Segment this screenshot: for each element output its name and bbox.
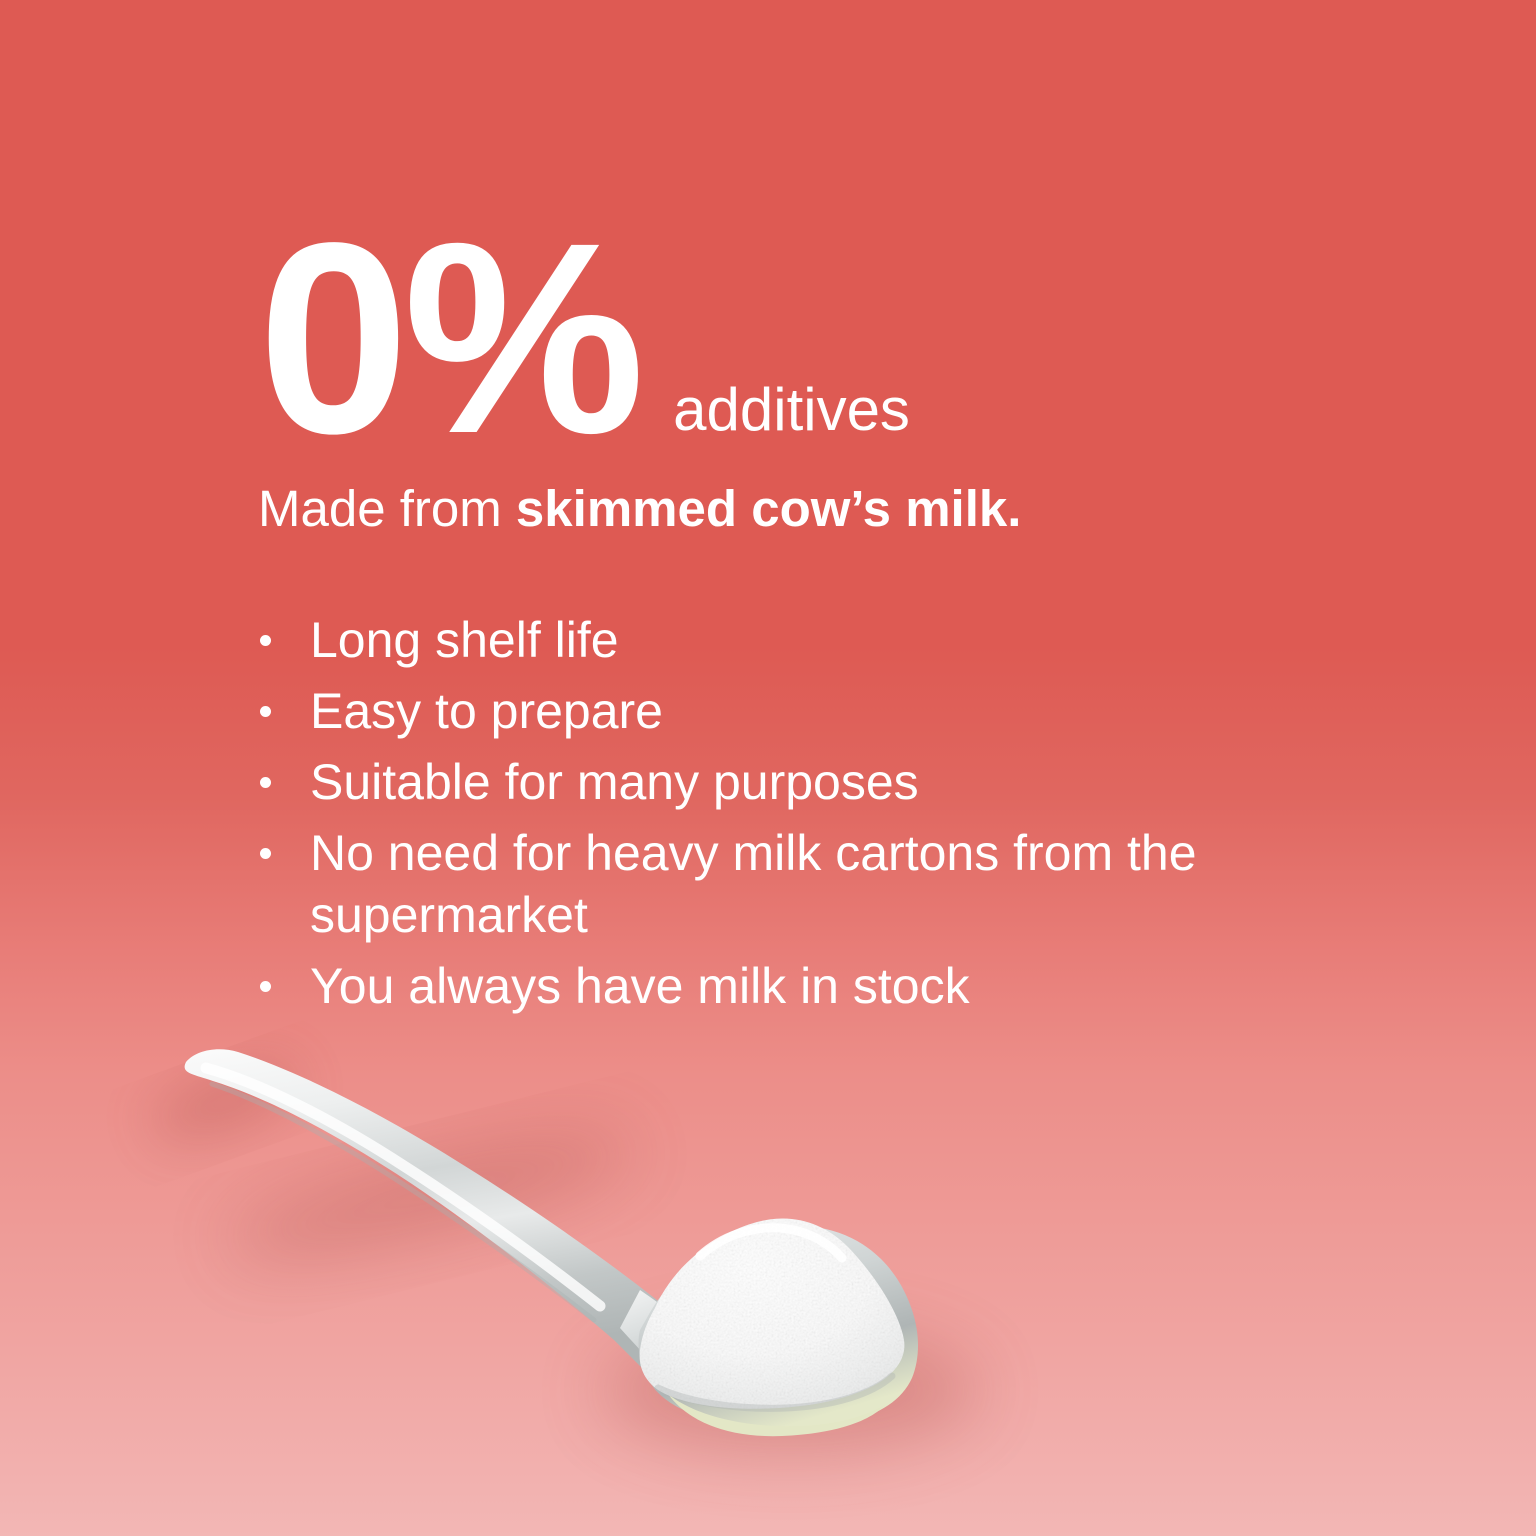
list-item-label: You always have milk in stock [310, 958, 970, 1014]
bullet-dot-icon [260, 777, 271, 788]
list-item-label: Suitable for many purposes [310, 754, 919, 810]
list-item: Easy to prepare [258, 680, 1218, 742]
subtitle: Made from skimmed cow’s milk. [258, 480, 1258, 539]
product-image-spoon-with-milk-powder [0, 990, 1536, 1536]
promo-poster: 0% additives Made from skimmed cow’s mil… [0, 0, 1536, 1536]
poster-text-block: 0% additives Made from skimmed cow’s mil… [258, 232, 1258, 1026]
list-item: Suitable for many purposes [258, 751, 1218, 813]
list-item-label: No need for heavy milk cartons from the … [310, 825, 1197, 943]
bullet-dot-icon [260, 981, 271, 992]
headline-percentage: 0% [258, 232, 639, 444]
list-item: No need for heavy milk cartons from the … [258, 822, 1218, 946]
benefits-list: Long shelf life Easy to prepare Suitable… [258, 609, 1218, 1017]
subtitle-regular-text: Made from [258, 480, 516, 537]
headline: 0% additives [258, 232, 1258, 444]
list-item: Long shelf life [258, 609, 1218, 671]
subtitle-bold-text: skimmed cow’s milk. [516, 480, 1022, 537]
list-item: You always have milk in stock [258, 955, 1218, 1017]
list-item-label: Easy to prepare [310, 683, 663, 739]
headline-qualifier: additives [673, 380, 910, 440]
bullet-dot-icon [260, 848, 271, 859]
bullet-dot-icon [260, 635, 271, 646]
milk-powder-mound [620, 1210, 920, 1420]
list-item-label: Long shelf life [310, 612, 619, 668]
bullet-dot-icon [260, 706, 271, 717]
